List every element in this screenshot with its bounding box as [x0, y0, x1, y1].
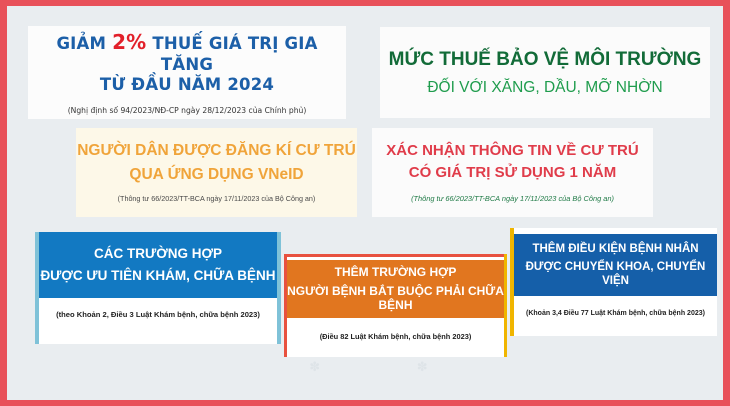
compulsory-card-title: THÊM TRƯỜNG HỢP [335, 265, 457, 280]
env-card-title: MỨC THUẾ BẢO VỆ MÔI TRƯỜNG [389, 48, 702, 71]
vat-card-title: GIẢM 2% THUẾ GIÁ TRỊ GIA TĂNG [28, 30, 346, 75]
vat-reduction-card: GIẢM 2% THUẾ GIÁ TRỊ GIA TĂNG TỪ ĐẦU NĂM… [28, 26, 346, 119]
priority-card-subtitle: ĐƯỢC ƯU TIÊN KHÁM, CHỮA BỆNH [40, 268, 275, 284]
compulsory-right-stripe [504, 254, 507, 357]
residence-confirmation-card: XÁC NHẬN THÔNG TIN VỀ CƯ TRÚ CÓ GIÁ TRỊ … [372, 128, 653, 217]
compulsory-card-header: THÊM TRƯỜNG HỢP NGƯỜI BỆNH BẮT BUỘC PHẢI… [287, 260, 504, 318]
vat-title-suffix: THUẾ GIÁ TRỊ GIA TĂNG [146, 34, 317, 73]
transfer-card-subtitle: ĐƯỢC CHUYỂN KHOA, CHUYỂN VIỆN [514, 260, 717, 288]
compulsory-top-stripe [284, 254, 507, 257]
vneid-card-title: NGƯỜI DÂN ĐƯỢC ĐĂNG KÍ CƯ TRÚ [77, 142, 356, 161]
infographic-canvas: GIẢM 2% THUẾ GIÁ TRỊ GIA TĂNG TỪ ĐẦU NĂM… [7, 6, 723, 400]
priority-card-title: CÁC TRƯỜNG HỢP [94, 246, 222, 262]
environment-tax-card: MỨC THUẾ BẢO VỆ MÔI TRƯỜNG ĐỐI VỚI XĂNG,… [380, 27, 710, 118]
vat-card-subtitle: TỪ ĐẦU NĂM 2024 [100, 75, 274, 95]
vneid-card-subtitle: QUA ỨNG DỤNG VNeID [129, 166, 303, 185]
env-card-subtitle: ĐỐI VỚI XĂNG, DẦU, MỠ NHỜN [427, 79, 662, 97]
watermark-mark-b: ✽ [417, 359, 430, 375]
transfer-card-note: (Khoản 3,4 Điều 77 Luật Khám bệnh, chữa … [514, 310, 717, 317]
priority-card-header: CÁC TRƯỜNG HỢP ĐƯỢC ƯU TIÊN KHÁM, CHỮA B… [39, 232, 277, 298]
transfer-card-header: THÊM ĐIỀU KIỆN BỆNH NHÂN ĐƯỢC CHUYỂN KHO… [514, 234, 717, 296]
vneid-residence-card: NGƯỜI DÂN ĐƯỢC ĐĂNG KÍ CƯ TRÚ QUA ỨNG DỤ… [76, 128, 357, 217]
residence-card-title: XÁC NHẬN THÔNG TIN VỀ CƯ TRÚ [386, 142, 638, 160]
compulsory-treatment-card: THÊM TRƯỜNG HỢP NGƯỜI BỆNH BẮT BUỘC PHẢI… [284, 254, 507, 357]
priority-card-note: (theo Khoản 2, Điều 3 Luật Khám bệnh, ch… [39, 310, 277, 319]
watermark-mark-a: ✽ [309, 359, 322, 375]
compulsory-card-subtitle: NGƯỜI BỆNH BẮT BUỘC PHẢI CHỮA BỆNH [287, 284, 504, 313]
vneid-card-note: (Thông tư 66/2023/TT-BCA ngày 17/11/2023… [118, 194, 316, 203]
residence-card-note: (Thông tư 66/2023/TT-BCA ngày 17/11/2023… [411, 194, 614, 203]
priority-examination-card: CÁC TRƯỜNG HỢP ĐƯỢC ƯU TIÊN KHÁM, CHỮA B… [35, 232, 281, 344]
vat-title-prefix: GIẢM [56, 34, 112, 53]
transfer-card-title: THÊM ĐIỀU KIỆN BỆNH NHÂN [532, 242, 698, 256]
patient-transfer-card: THÊM ĐIỀU KIỆN BỆNH NHÂN ĐƯỢC CHUYỂN KHO… [510, 228, 717, 336]
compulsory-card-note: (Điều 82 Luật Khám bệnh, chữa bệnh 2023) [287, 332, 504, 341]
vat-percentage: 2% [112, 30, 146, 54]
priority-right-stripe [277, 232, 281, 344]
vat-card-note: (Nghị định số 94/2023/NĐ-CP ngày 28/12/2… [68, 106, 307, 115]
watermark: ✽ ✽ [262, 358, 477, 376]
residence-card-subtitle: CÓ GIÁ TRỊ SỬ DỤNG 1 NĂM [409, 164, 616, 182]
